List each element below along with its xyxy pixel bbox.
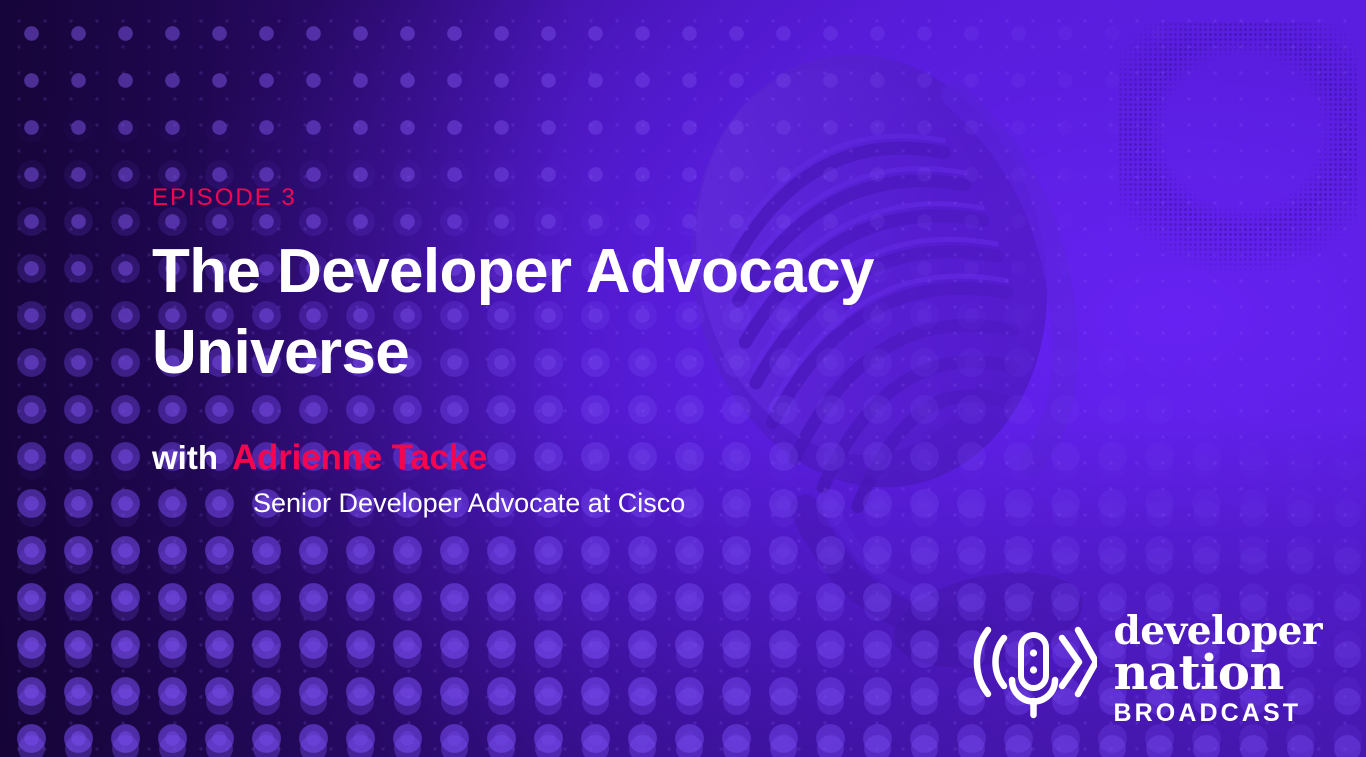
- logo-broadcast-text: BROADCAST: [1113, 700, 1301, 728]
- episode-number-label: EPISODE 3: [152, 186, 1032, 210]
- host-line: with Adrienne Tacke: [152, 439, 1032, 478]
- host-block: with Adrienne Tacke Senior Developer Adv…: [152, 439, 1032, 522]
- halftone-blob-texture-icon: [1118, 22, 1358, 272]
- developer-nation-broadcast-logo: developer nation BROADCAST: [969, 613, 1322, 727]
- podcast-microphone-icon: [969, 618, 1097, 722]
- host-name: Adrienne Tacke: [232, 439, 487, 478]
- logo-nation-text: nation: [1113, 649, 1283, 697]
- episode-title: The Developer Advocacy Universe: [152, 232, 982, 393]
- host-prefix-label: with: [152, 440, 218, 476]
- logo-wordmark: developer nation BROADCAST: [1113, 613, 1322, 727]
- episode-content: EPISODE 3 The Developer Advocacy Univers…: [152, 186, 1032, 522]
- episode-card: EPISODE 3 The Developer Advocacy Univers…: [0, 0, 1366, 757]
- host-role: Senior Developer Advocate at Cisco: [253, 484, 723, 522]
